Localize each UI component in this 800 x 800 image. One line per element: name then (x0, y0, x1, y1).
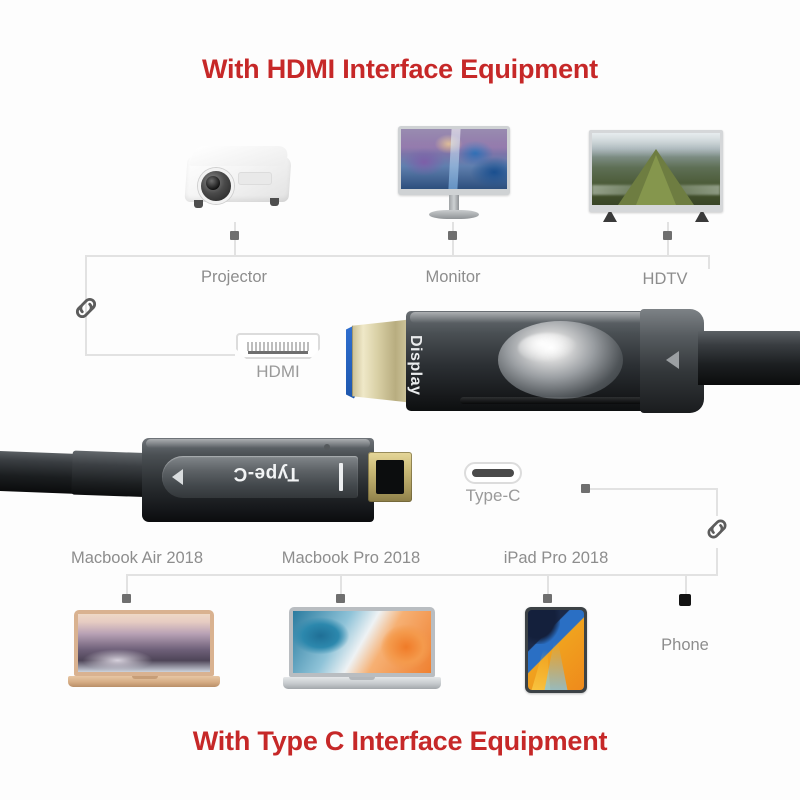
typec-bus-top-line (590, 488, 718, 490)
stem-ipad-pro (547, 574, 549, 596)
stem-hdtv-lower (667, 240, 669, 256)
typec-direction-triangle-icon (172, 469, 183, 485)
stem-projector-lower (234, 240, 236, 256)
macbook-pro-icon (283, 607, 441, 695)
monitor-icon (398, 126, 510, 222)
node-typec-branch (581, 484, 590, 493)
stem-phone (685, 574, 687, 596)
device-label-macbook-air: Macbook Air 2018 (44, 549, 230, 568)
device-label-monitor: Monitor (398, 268, 508, 287)
usb-c-port-icon (464, 462, 522, 484)
device-label-projector: Projector (174, 268, 294, 287)
link-chain-icon-bottom (700, 512, 734, 551)
typec-bus-right-riser-2 (716, 548, 718, 576)
device-label-hdtv: HDTV (615, 270, 715, 289)
stem-macbook-pro (340, 574, 342, 596)
infographic-canvas: With HDMI Interface Equipment (0, 0, 800, 800)
hdtv-icon (589, 130, 723, 222)
hdmi-bus-right-riser (708, 255, 710, 269)
device-label-phone: Phone (645, 636, 725, 655)
projector-icon (178, 136, 298, 221)
typec-connector-text: Type-C (206, 462, 326, 484)
hdmi-cable-connector: Display (340, 305, 800, 415)
page-title-top: With HDMI Interface Equipment (0, 54, 800, 85)
device-label-ipad-pro: iPad Pro 2018 (478, 549, 634, 568)
stem-macbook-air (126, 574, 128, 596)
node-macbook-pro (336, 594, 345, 603)
typec-cable-connector: Type-C (0, 432, 440, 536)
stem-monitor-lower (452, 240, 454, 256)
hdmi-port-label: HDMI (236, 362, 320, 382)
node-ipad-pro (543, 594, 552, 603)
ipad-pro-icon (525, 607, 587, 693)
page-title-bottom: With Type C Interface Equipment (0, 726, 800, 757)
hdmi-direction-triangle-icon (666, 351, 679, 369)
device-label-macbook-pro: Macbook Pro 2018 (258, 549, 444, 568)
typec-bus-main-line (126, 574, 718, 576)
node-monitor (448, 231, 457, 240)
macbook-air-icon (68, 610, 220, 694)
link-chain-icon-top (68, 290, 104, 331)
hdmi-port-icon (236, 333, 320, 359)
node-projector (230, 231, 239, 240)
phone-node-icon (679, 594, 691, 606)
hdmi-port-branch (85, 354, 235, 356)
node-macbook-air (122, 594, 131, 603)
hdmi-bus-line (85, 255, 710, 257)
typec-port-label: Type-C (452, 486, 534, 506)
hdmi-connector-text: Display (406, 335, 424, 395)
node-hdtv (663, 231, 672, 240)
